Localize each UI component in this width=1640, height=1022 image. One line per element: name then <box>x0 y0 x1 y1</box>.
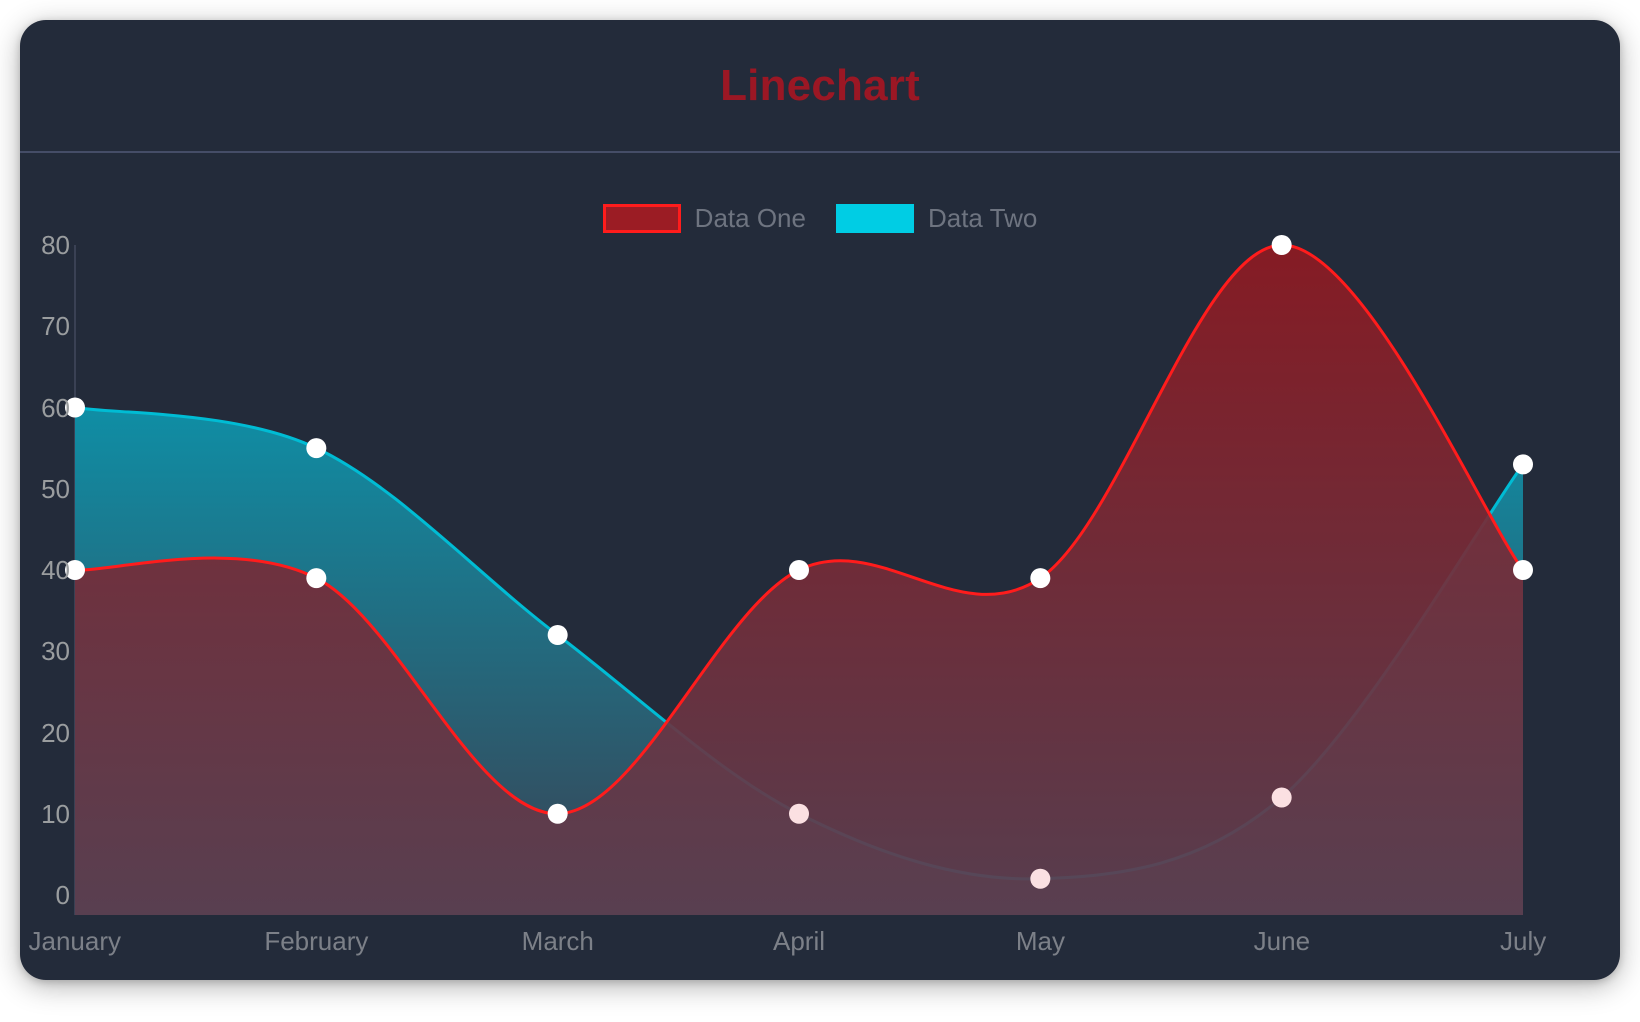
y-tick-label: 0 <box>24 882 70 908</box>
data-point[interactable] <box>1030 568 1050 588</box>
y-tick-label: 70 <box>24 313 70 339</box>
data-point[interactable] <box>789 560 809 580</box>
data-point[interactable] <box>1272 788 1292 808</box>
data-point[interactable] <box>306 568 326 588</box>
y-tick-label: 60 <box>24 395 70 421</box>
x-tick-label: June <box>1254 928 1310 954</box>
data-point[interactable] <box>1030 869 1050 889</box>
y-tick-label: 10 <box>24 801 70 827</box>
plot-area[interactable]: 80706050403020100 JanuaryFebruaryMarchAp… <box>20 20 1620 980</box>
data-point[interactable] <box>1513 454 1533 474</box>
y-tick-label: 30 <box>24 638 70 664</box>
y-axis: 80706050403020100 <box>20 20 70 980</box>
y-tick-label: 80 <box>24 232 70 258</box>
chart-page: Linechart Data One Data Two 807060504030… <box>0 0 1640 1022</box>
data-point[interactable] <box>1272 235 1292 255</box>
linechart-card: Linechart Data One Data Two 807060504030… <box>20 20 1620 980</box>
data-point[interactable] <box>548 804 568 824</box>
chart-canvas <box>20 20 1620 980</box>
x-tick-label: March <box>522 928 594 954</box>
x-tick-label: January <box>29 928 122 954</box>
data-point[interactable] <box>789 804 809 824</box>
y-tick-label: 20 <box>24 720 70 746</box>
x-tick-label: July <box>1500 928 1546 954</box>
data-point[interactable] <box>306 438 326 458</box>
y-tick-label: 40 <box>24 557 70 583</box>
x-tick-label: April <box>773 928 825 954</box>
x-tick-label: February <box>264 928 368 954</box>
y-tick-label: 50 <box>24 476 70 502</box>
data-point[interactable] <box>1513 560 1533 580</box>
x-axis: JanuaryFebruaryMarchAprilMayJuneJuly <box>20 920 1620 970</box>
x-tick-label: May <box>1016 928 1065 954</box>
data-point[interactable] <box>548 625 568 645</box>
